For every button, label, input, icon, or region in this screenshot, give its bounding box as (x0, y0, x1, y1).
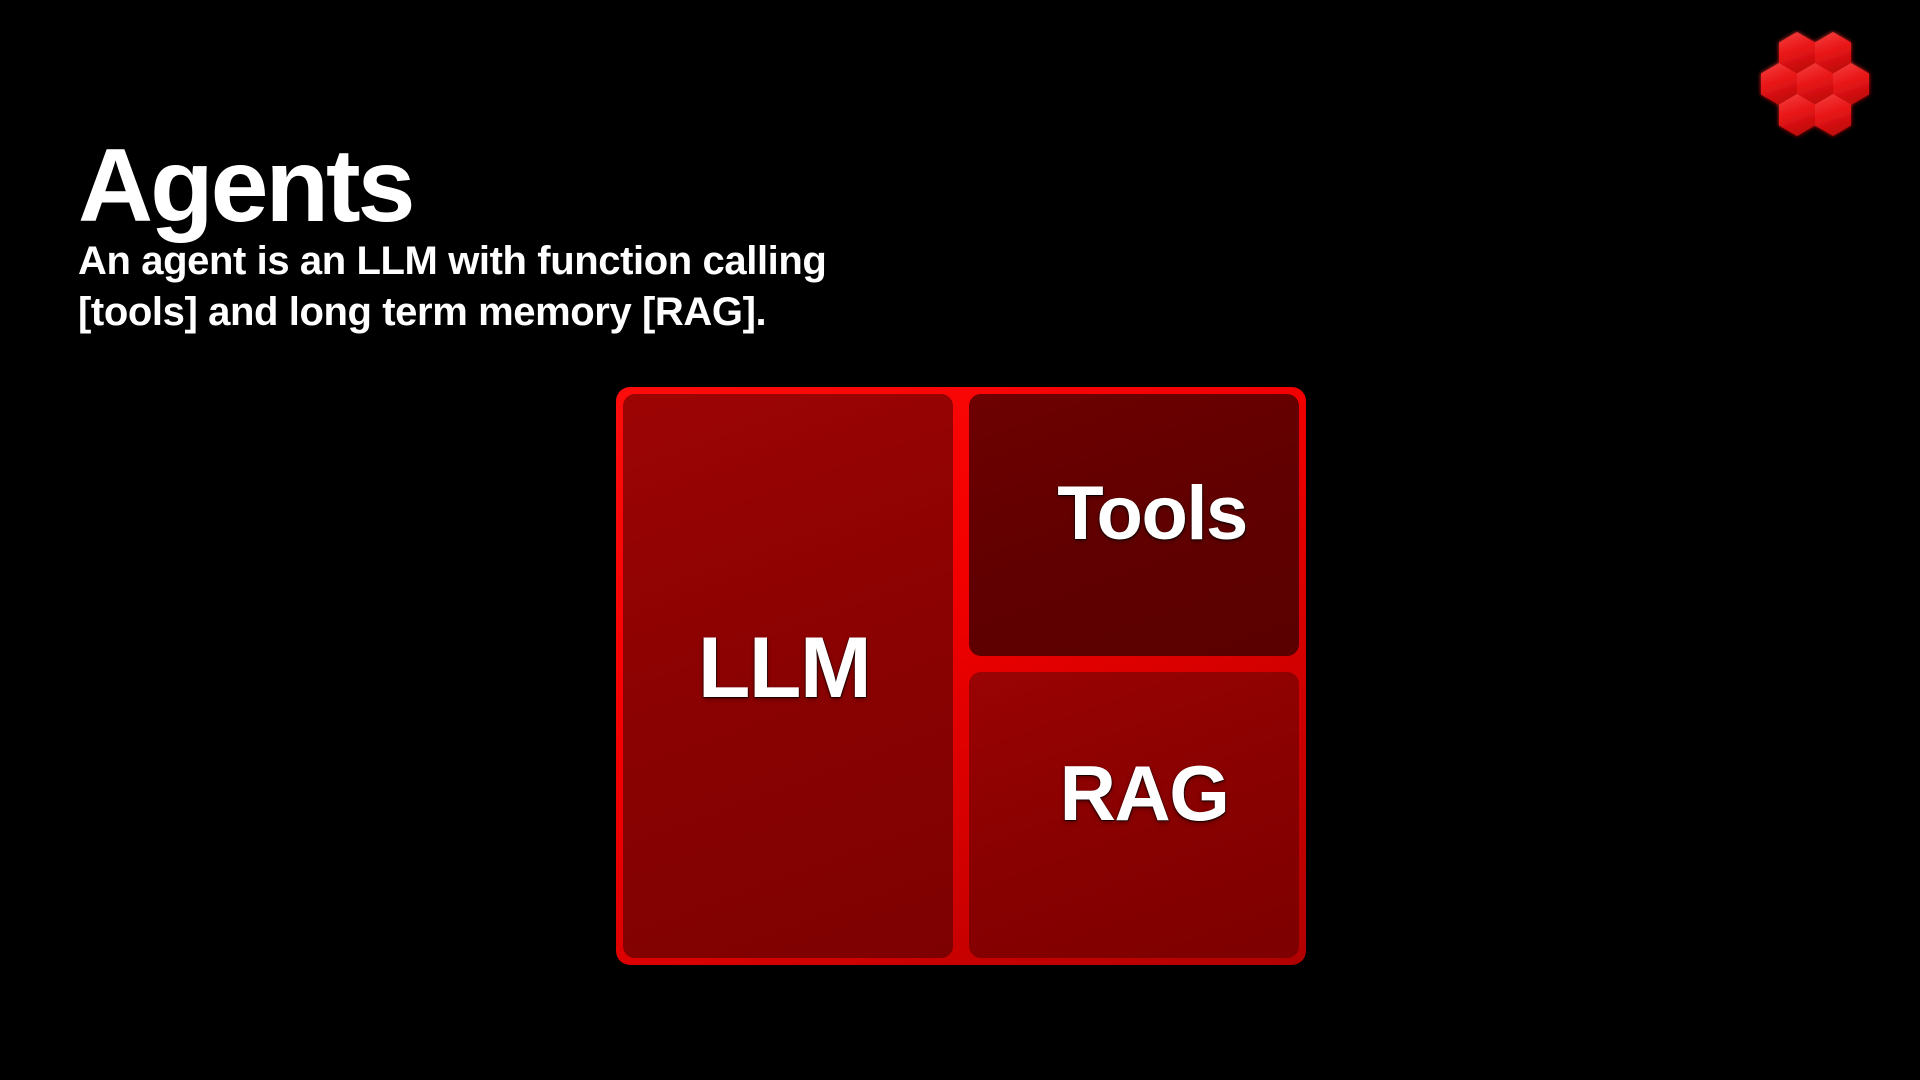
subtitle-line-2: [tools] and long term memory [RAG]. (78, 287, 826, 338)
agent-architecture-diagram: LLM Tools RAG (616, 387, 1306, 965)
slide-canvas: Agents An agent is an LLM with function … (0, 0, 1920, 1080)
hexagon-honeycomb-logo (1755, 30, 1875, 146)
panel-tools-label: Tools (1057, 470, 1247, 557)
panel-rag-label: RAG (1060, 748, 1229, 839)
diagram-left-column: LLM (623, 394, 953, 958)
hexagon-honeycomb-icon (1755, 30, 1875, 146)
page-title: Agents (78, 134, 412, 238)
subtitle-line-1: An agent is an LLM with function calling (78, 236, 826, 287)
subtitle-block: An agent is an LLM with function calling… (78, 236, 826, 338)
diagram-right-column: Tools RAG (969, 394, 1299, 958)
panel-llm-label: LLM (698, 619, 870, 718)
panel-rag[interactable]: RAG (969, 672, 1299, 958)
panel-llm[interactable]: LLM (623, 394, 953, 958)
panel-tools[interactable]: Tools (969, 394, 1299, 656)
